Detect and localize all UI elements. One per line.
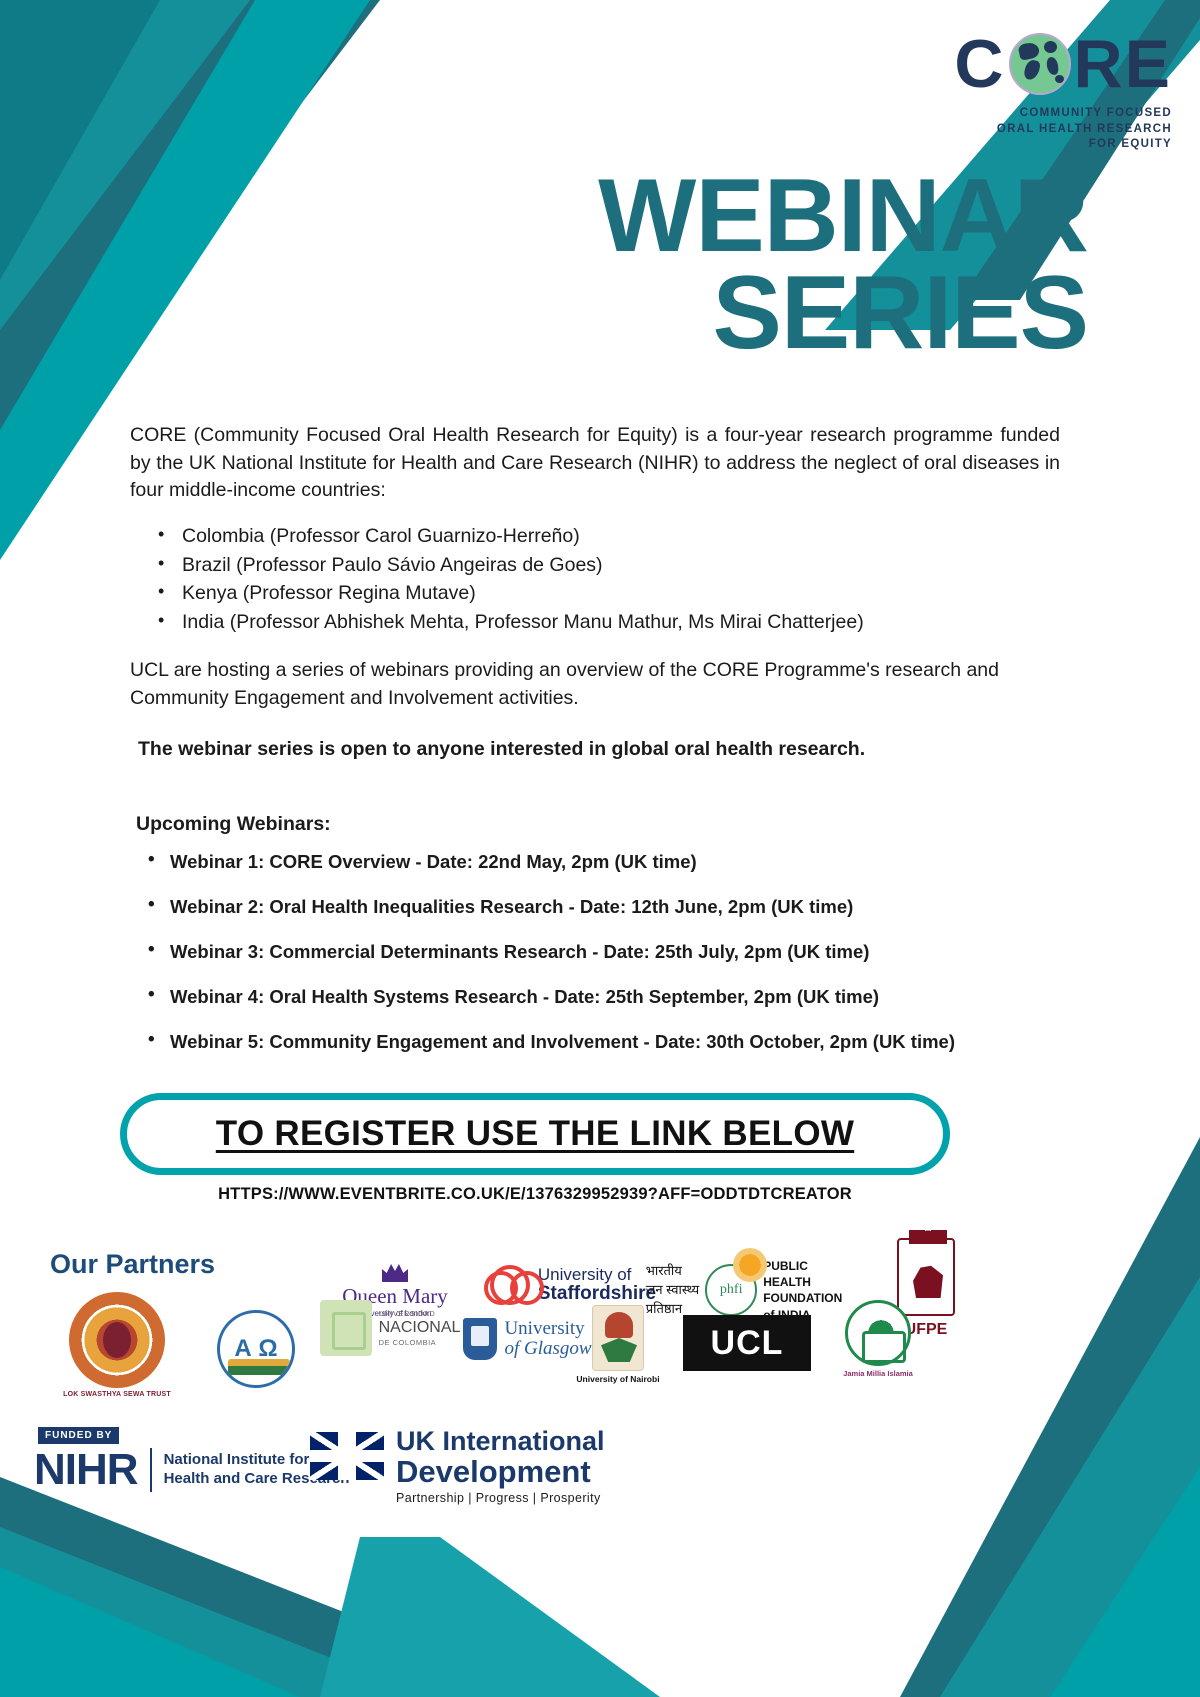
glasgow-crest-icon [463, 1318, 497, 1360]
core-tagline-line-3: FOR EQUITY [912, 137, 1172, 153]
partners-heading: Our Partners [50, 1249, 215, 1280]
nairobi-caption: University of Nairobi [576, 1374, 659, 1384]
core-logo-tagline: COMMUNITY FOCUSED ORAL HEALTH RESEARCH F… [912, 106, 1172, 153]
core-logo-wordmark: C R E [912, 28, 1172, 100]
register-button[interactable]: TO REGISTER USE THE LINK BELOW [120, 1093, 950, 1175]
webinar-item-4: Webinar 4: Oral Health Systems Research … [144, 985, 1060, 1009]
staffordshire-knot-icon [490, 1265, 530, 1305]
logo-letter-c: C [954, 30, 1005, 98]
register-button-label: TO REGISTER USE THE LINK BELOW [216, 1114, 854, 1154]
webinar-item-2: Webinar 2: Oral Health Inequalities Rese… [144, 895, 1060, 919]
partner-logo-jamia-millia-islamia: Jamia Millia Islamia [830, 1300, 926, 1378]
unal-line-3: DE COLOMBIA [379, 1338, 461, 1347]
funder-logo-uk-international-development: UK International Development Partnership… [310, 1428, 605, 1505]
core-tagline-line-1: COMMUNITY FOCUSED [912, 106, 1172, 122]
logo-letter-e: E [1125, 30, 1172, 98]
unal-text: UNIVERSIDAD NACIONAL DE COLOMBIA [379, 1309, 461, 1348]
ukintl-strapline: Partnership | Progress | Prosperity [396, 1491, 605, 1505]
phfi-hindi-line-1: भारतीय [646, 1262, 699, 1281]
webinar-item-3: Webinar 3: Commercial Determinants Resea… [144, 940, 1060, 964]
list-item: Brazil (Professor Paulo Sávio Angeiras d… [158, 552, 1060, 580]
page-title: WEBINAR SERIES [108, 168, 1088, 361]
intro-paragraph: CORE (Community Focused Oral Health Rese… [130, 422, 1060, 505]
page-title-line-2: SERIES [108, 265, 1088, 362]
core-logo: C R E COMMUNITY FOCUSED ORAL HEALTH RESE… [912, 28, 1172, 148]
lok-swasthya-caption: LOK SWASTHYA SEWA TRUST [63, 1391, 171, 1398]
partner-logo-seal [212, 1310, 300, 1388]
upcoming-webinars-heading: Upcoming Webinars: [136, 813, 1060, 836]
union-jack-icon [310, 1432, 384, 1480]
phfi-mark-icon: phfi [705, 1264, 757, 1316]
lok-swasthya-icon [69, 1292, 165, 1388]
nihr-funded-by-badge: FUNDED BY [38, 1427, 119, 1444]
countries-list: Colombia (Professor Carol Guarnizo-Herre… [158, 523, 1060, 637]
partner-logo-lok-swasthya-sewa-trust: LOK SWASTHYA SEWA TRUST [56, 1292, 178, 1398]
partner-logo-nairobi: University of Nairobi [568, 1305, 668, 1384]
nairobi-crest-icon [592, 1305, 644, 1371]
registration-url[interactable]: HTTPS://WWW.EVENTBRITE.CO.UK/E/137632995… [120, 1185, 950, 1204]
webinars-list: Webinar 1: CORE Overview - Date: 22nd Ma… [144, 850, 1060, 1054]
unal-crest-icon [320, 1300, 372, 1356]
globe-icon [1009, 33, 1071, 95]
ukintl-line-1: UK International [396, 1426, 605, 1456]
partner-logo-ucl: UCL [682, 1315, 812, 1371]
logo-letter-r: R [1074, 30, 1125, 98]
phfi-hindi-line-2: जन स्वास्थ्य [646, 1281, 699, 1300]
nihr-divider [150, 1448, 152, 1492]
nihr-name-line-1: National Institute for [164, 1451, 310, 1468]
list-item: Kenya (Professor Regina Mutave) [158, 580, 1060, 608]
list-item: Colombia (Professor Carol Guarnizo-Herre… [158, 523, 1060, 551]
webinar-item-1: Webinar 1: CORE Overview - Date: 22nd Ma… [144, 850, 1060, 874]
core-tagline-line-2: ORAL HEALTH RESEARCH [912, 122, 1172, 138]
list-item: India (Professor Abhishek Mehta, Profess… [158, 609, 1060, 637]
phfi-eng-line-1: PUBLIC [763, 1258, 842, 1274]
university-seal-icon [217, 1310, 295, 1388]
poster-body: CORE (Community Focused Oral Health Rese… [130, 422, 1060, 1075]
partner-logo-universidad-nacional: UNIVERSIDAD NACIONAL DE COLOMBIA [310, 1300, 470, 1356]
unal-line-2: NACIONAL [379, 1318, 461, 1338]
jamia-caption: Jamia Millia Islamia [843, 1369, 913, 1378]
crown-icon [382, 1262, 408, 1282]
uk-international-text: UK International Development Partnership… [396, 1428, 605, 1505]
ucl-wordmark: UCL [683, 1315, 811, 1371]
jamia-crest-icon [845, 1300, 911, 1366]
nihr-wordmark: NIHR [34, 1445, 138, 1495]
webinar-poster: C R E COMMUNITY FOCUSED ORAL HEALTH RESE… [0, 0, 1200, 1697]
funder-logo-nihr: FUNDED BY NIHR National Institute for He… [34, 1445, 349, 1495]
ukintl-line-2: Development [396, 1454, 591, 1489]
open-statement: The webinar series is open to anyone int… [138, 738, 1060, 761]
webinar-item-5: Webinar 5: Community Engagement and Invo… [144, 1030, 1060, 1054]
page-title-line-1: WEBINAR [108, 168, 1088, 265]
hosting-paragraph: UCL are hosting a series of webinars pro… [130, 657, 1060, 712]
unal-line-1: UNIVERSIDAD [379, 1309, 461, 1318]
phfi-eng-line-2: HEALTH [763, 1274, 842, 1290]
